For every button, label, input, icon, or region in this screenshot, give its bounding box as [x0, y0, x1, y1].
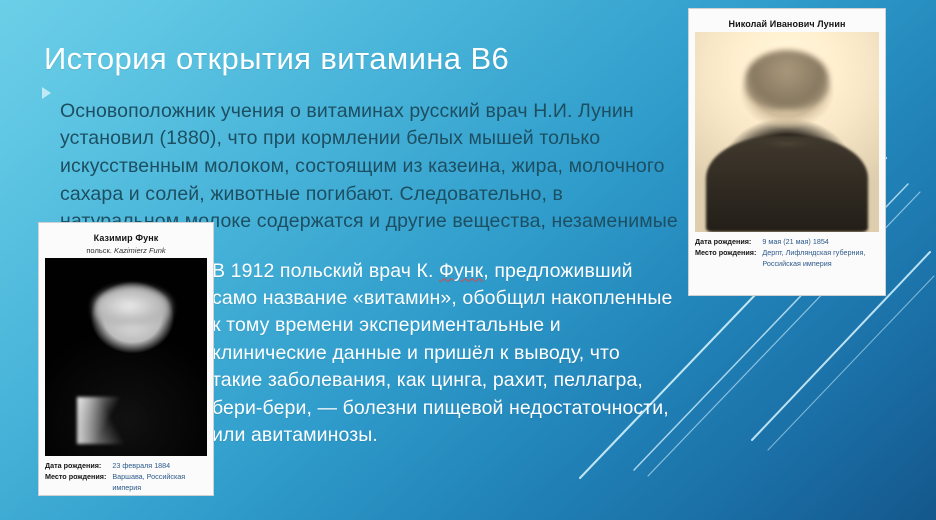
- row-label: Дата рождения:: [45, 460, 112, 471]
- info-card-funk: Казимир Функ польск. Kazimierz Funk Дата…: [38, 222, 214, 496]
- triangle-right-bullet-icon: [42, 87, 51, 99]
- row-value: 23 февраля 1884: [112, 460, 207, 471]
- row-value: Дерпт, Лифляндская губерния, Российская …: [762, 248, 879, 270]
- row-value: 9 мая (21 мая) 1854: [762, 236, 879, 247]
- page-title: История открытия витамина B6: [44, 41, 684, 77]
- card-name-lunin: Николай Иванович Лунин: [695, 19, 879, 30]
- slide: История открытия витамина B6 Основополож…: [0, 0, 936, 520]
- row-label: Дата рождения:: [695, 236, 762, 247]
- table-row: Дата рождения: 9 мая (21 мая) 1854: [695, 236, 879, 247]
- table-row: Место рождения: Варшава, Российская импе…: [45, 472, 207, 494]
- secondary-paragraph: В 1912 польский врач К. Функ, предложивш…: [212, 258, 674, 450]
- row-label: Место рождения:: [695, 248, 762, 270]
- info-table-lunin: Дата рождения: 9 мая (21 мая) 1854 Место…: [695, 236, 879, 269]
- table-row: Дата рождения: 23 февраля 1884: [45, 460, 207, 471]
- subname-prefix: польск.: [86, 246, 114, 255]
- spellchecked-word: Функ: [439, 260, 483, 282]
- card-subname-funk: польск. Kazimierz Funk: [45, 246, 207, 255]
- portrait-image-lunin: [695, 32, 879, 232]
- paragraph-part-2: , предложивший само название «витамин», …: [212, 260, 672, 447]
- paragraph-part-1: В 1912 польский врач К.: [212, 260, 439, 282]
- portrait-image-funk: [45, 258, 207, 456]
- subname-native: Kazimierz Funk: [114, 246, 166, 255]
- info-table-funk: Дата рождения: 23 февраля 1884 Место рож…: [45, 460, 207, 493]
- row-value: Варшава, Российская империя: [112, 472, 207, 494]
- card-name-funk: Казимир Функ: [45, 233, 207, 244]
- row-label: Место рождения:: [45, 472, 112, 494]
- info-card-lunin: Николай Иванович Лунин Дата рождения: 9 …: [688, 8, 886, 296]
- table-row: Место рождения: Дерпт, Лифляндская губер…: [695, 248, 879, 270]
